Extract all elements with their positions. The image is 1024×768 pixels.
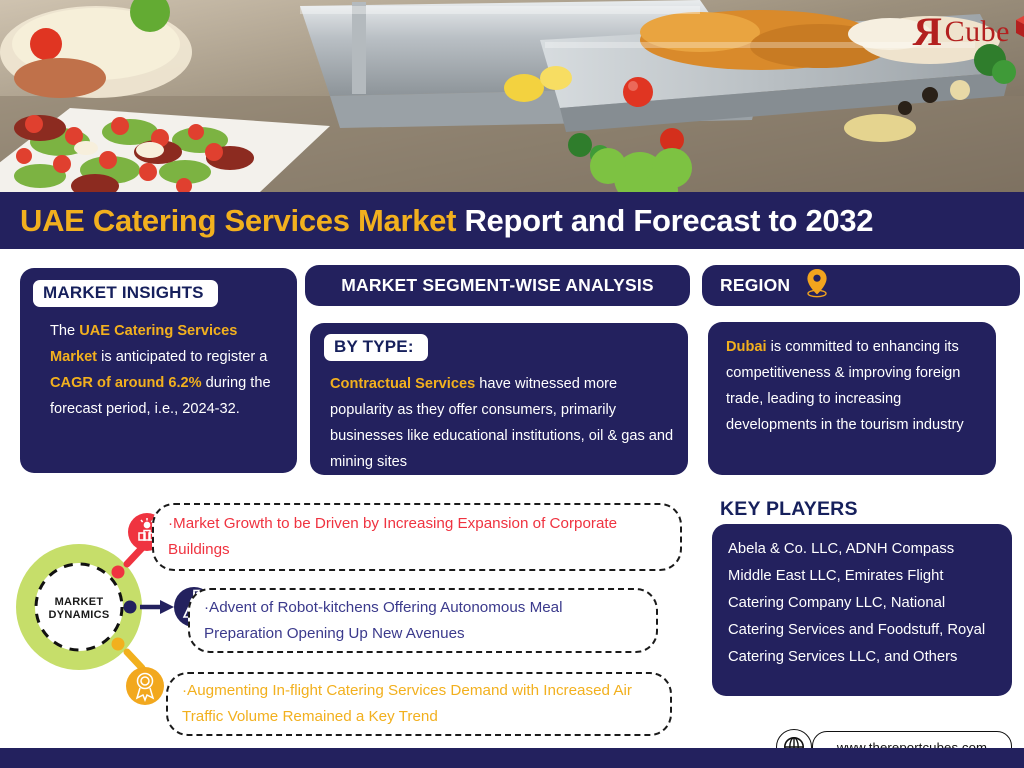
hero-catering-photo: R Cube — [0, 0, 1024, 192]
footer-bar — [0, 748, 1024, 768]
title-bar: UAE Catering Services Market Report and … — [0, 192, 1024, 249]
key-players-body: Abela & Co. LLC, ADNH Compass Middle Eas… — [728, 536, 1000, 671]
segment-analysis-header: MARKET SEGMENT-WISE ANALYSIS — [305, 265, 690, 306]
region-header-label: REGION — [720, 275, 790, 296]
market-insights-heading: MARKET INSIGHTS — [33, 280, 218, 307]
segment-analysis-text-seg-0: Contractual Services — [330, 376, 475, 392]
market-insights-body: The UAE Catering Services Market is anti… — [50, 318, 283, 422]
market-insights-text-seg-2: is anticipated to register a — [97, 349, 267, 365]
title-highlight: UAE Catering Services Market — [20, 203, 456, 238]
dynamics-item-2-text: ·Advent of Robot-kitchens Offering Auton… — [190, 595, 656, 647]
dynamics-center-label: MARKET DYNAMICS — [19, 596, 139, 622]
market-insights-card: MARKET INSIGHTS The UAE Catering Service… — [20, 268, 297, 473]
market-insights-text-seg-0: The — [50, 323, 79, 339]
infographic-page: R Cube UAE Catering Services Market Repo… — [0, 0, 1024, 768]
logo-word: Cube — [945, 17, 1010, 47]
region-card: Dubai is committed to enhancing its comp… — [708, 322, 996, 475]
market-insights-text-seg-3: CAGR of around 6.2% — [50, 375, 202, 391]
segment-analysis-body: Contractual Services have witnessed more… — [330, 371, 677, 475]
dynamics-center-line1: MARKET — [19, 596, 139, 609]
region-body: Dubai is committed to enhancing its comp… — [726, 334, 988, 438]
key-players-title: KEY PLAYERS — [720, 498, 858, 521]
segment-by-type-heading: BY TYPE: — [324, 334, 428, 361]
region-header: REGION — [702, 265, 1020, 306]
title-rest: Report and Forecast to 2032 — [456, 203, 873, 238]
logo-letter: R — [913, 12, 942, 52]
dynamics-item-3: ·Augmenting In-flight Catering Services … — [166, 672, 672, 736]
region-text-seg-0: Dubai — [726, 339, 767, 355]
dynamics-item-1-text: ·Market Growth to be Driven by Increasin… — [154, 511, 680, 563]
award-badge-icon — [126, 667, 164, 705]
segment-by-type-label: BY TYPE: — [324, 334, 428, 361]
segment-analysis-card: BY TYPE: Contractual Services have witne… — [310, 323, 688, 475]
logo: R Cube — [913, 12, 1010, 52]
dynamics-item-2: ·Advent of Robot-kitchens Offering Auton… — [188, 588, 658, 653]
market-insights-heading-label: MARKET INSIGHTS — [33, 280, 218, 307]
location-pin-icon — [804, 268, 830, 303]
dynamics-item-3-text: ·Augmenting In-flight Catering Services … — [168, 678, 670, 730]
dynamics-center-line2: DYNAMICS — [19, 609, 139, 622]
page-title: UAE Catering Services Market Report and … — [20, 203, 873, 239]
segment-analysis-header-label: MARKET SEGMENT-WISE ANALYSIS — [341, 275, 654, 296]
dynamics-item-1: ·Market Growth to be Driven by Increasin… — [152, 503, 682, 571]
key-players-card: Abela & Co. LLC, ADNH Compass Middle Eas… — [712, 524, 1012, 696]
